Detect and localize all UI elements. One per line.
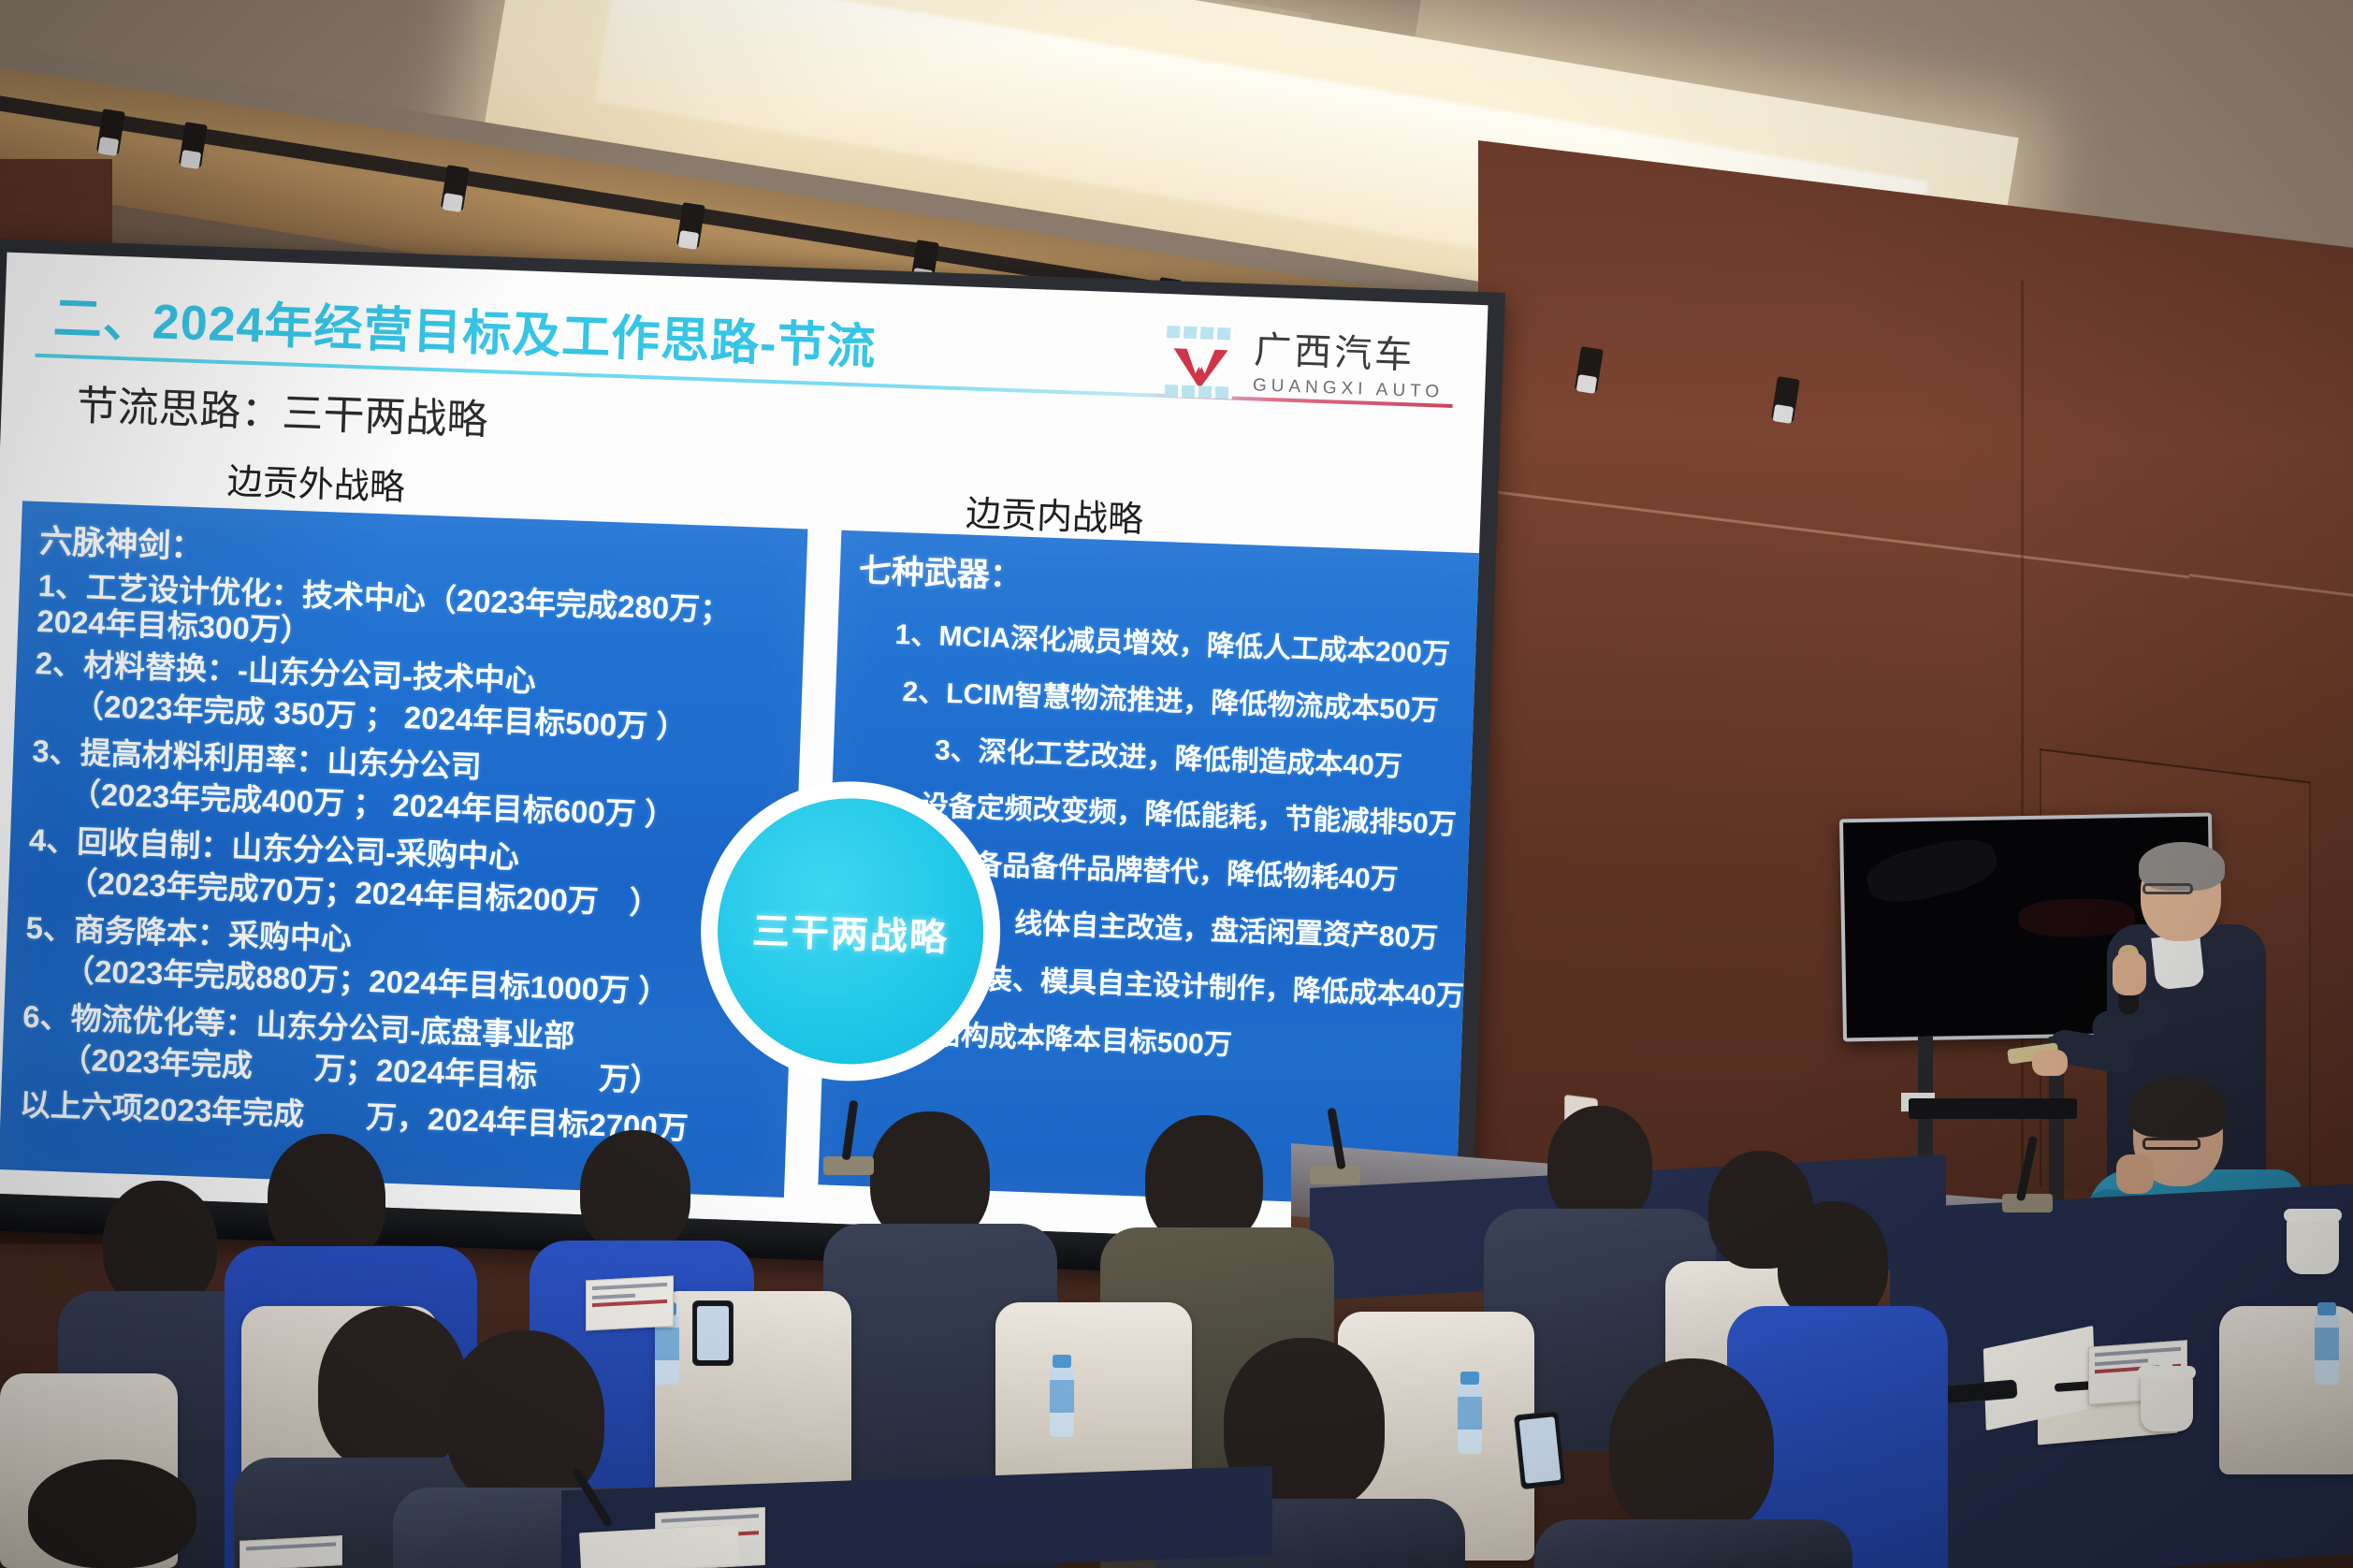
presenter-glasses: [2142, 883, 2193, 894]
water-bottle: [1050, 1366, 1074, 1437]
company-logo: 广西汽车 GUANGXI AUTO: [1158, 320, 1445, 411]
attendee-head: [1547, 1106, 1652, 1226]
attendee-teal-jacket-hand: [2116, 1154, 2154, 1194]
screenshot-root: 二、2024年经营目标及工作思路-节流 节流思路：三干两战略 广西汽车: [0, 0, 2353, 1568]
smartphone[interactable]: [692, 1300, 733, 1366]
attendee-head: [1145, 1115, 1263, 1246]
smartphone-2-screen: [1519, 1416, 1561, 1484]
name-card: [586, 1276, 674, 1331]
water-bottle: [2315, 1314, 2339, 1385]
presenter-hand-holding-clicker: [2032, 1050, 2068, 1076]
column-header-right: 边贡内战略: [965, 484, 1144, 542]
tea-cup-front-knob: [2159, 1357, 2172, 1368]
right-panel-heading: 七种武器：: [858, 544, 1488, 614]
tea-cup: [2287, 1216, 2339, 1274]
right-bullet-1: 1、MCIA深化减员增效，降低人工成本200万: [856, 617, 1489, 673]
desk-microphone-base: [2002, 1194, 2053, 1212]
attendee-head-ponytail: [318, 1306, 468, 1473]
name-card: [240, 1535, 342, 1568]
guangxi-auto-logo-icon: [1158, 320, 1242, 403]
projection-screen: 二、2024年经营目标及工作思路-节流 节流思路：三干两战略 广西汽车: [0, 239, 1505, 1284]
tv-stand-shelf: [1909, 1098, 2077, 1119]
screen-surface: 二、2024年经营目标及工作思路-节流 节流思路：三干两战略 广西汽车: [0, 253, 1488, 1246]
left-strategy-panel: 六脉神剑： 1、工艺设计优化：技术中心（2023年完成280万；2024年目标3…: [0, 501, 807, 1198]
tv-screen-glare: [1863, 832, 2002, 910]
smartphone-screen: [697, 1306, 729, 1360]
attendee-teal-jacket-glasses: [2142, 1138, 2200, 1150]
logo-text-cn: 广西汽车: [1254, 331, 1446, 375]
right-bullet-2: 2、LCIM智慧物流推进，降低物流成本50万: [854, 675, 1488, 730]
attendee-head: [103, 1181, 217, 1308]
water-bottle: [1458, 1383, 1482, 1454]
column-header-left: 边贡外战略: [226, 452, 406, 510]
attendee-teal-jacket-hair: [2129, 1078, 2227, 1138]
attendee-head: [1609, 1358, 1774, 1538]
attendee-head: [1708, 1151, 1813, 1269]
attendee-head: [268, 1134, 385, 1265]
notebook-page: [579, 1525, 740, 1568]
water-bottle-cap: [1053, 1355, 1071, 1368]
water-bottle-cap: [1460, 1372, 1479, 1385]
presenter-hand-holding-mic: [2113, 952, 2146, 995]
smartphone-2[interactable]: [1514, 1411, 1566, 1490]
tea-cup-lid: [2284, 1209, 2342, 1222]
water-bottle-cap: [2317, 1302, 2336, 1315]
attendee-head: [580, 1130, 690, 1254]
tea-cup-front-lid: [2138, 1366, 2196, 1379]
desk-microphone-base: [1310, 1166, 1360, 1184]
tea-cup-front: [2141, 1373, 2193, 1431]
attendee-torso: [1534, 1519, 1852, 1568]
presentation-slide: 二、2024年经营目标及工作思路-节流 节流思路：三干两战略 广西汽车: [0, 253, 1488, 1246]
wall-panel-seam: [2021, 281, 2024, 1216]
right-bullet-3: 3、深化工艺改进，降低制造成本40万: [851, 732, 1485, 787]
logo-text-en: GUANGXI AUTO: [1253, 375, 1445, 402]
center-circle-label: 三干两战略: [751, 901, 950, 962]
attendee-head: [28, 1459, 196, 1568]
strategy-panels: 六脉神剑： 1、工艺设计优化：技术中心（2023年完成280万；2024年目标3…: [6, 501, 1447, 1226]
presenter-shirt-collar: [2151, 933, 2205, 990]
